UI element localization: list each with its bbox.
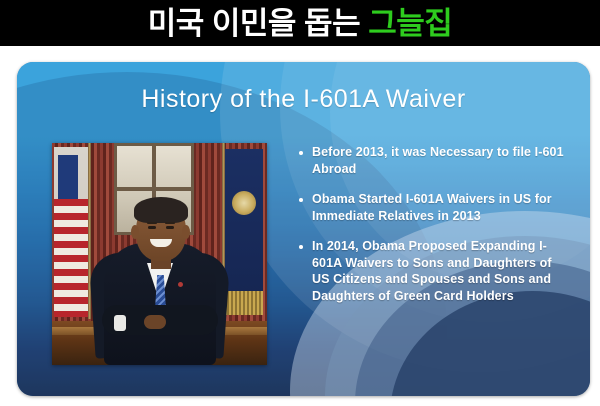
photo-presidential-seal [232, 191, 256, 215]
header-title-white: 미국 이민을 돕는 [148, 6, 360, 41]
bullet-dot-icon [299, 245, 303, 249]
photo-right-eye [166, 226, 174, 229]
slide-title: History of the I-601A Waiver [17, 85, 590, 114]
header-title-green: 그늘집 [368, 6, 452, 41]
photo-shirt-cuff [114, 315, 126, 331]
photo-window-mullion-horizontal [114, 187, 194, 191]
photo-hair [134, 197, 188, 223]
list-item: Obama Started I-601A Waivers in US for I… [299, 191, 569, 224]
header-banner: 미국 이민을 돕는 그늘집 [0, 0, 600, 46]
photo-flag-fringe [225, 291, 263, 315]
header-title: 미국 이민을 돕는 그늘집 [148, 8, 453, 39]
bullet-dot-icon [299, 151, 303, 155]
obama-portrait-photo [52, 143, 267, 365]
list-item: In 2014, Obama Proposed Expanding I-601A… [299, 238, 569, 304]
bullet-text: Obama Started I-601A Waivers in US for I… [312, 191, 569, 224]
photo-right-eyebrow [165, 222, 175, 224]
photo-hand [144, 315, 166, 329]
photo-lapel-pin [178, 282, 183, 287]
bullet-dot-icon [299, 198, 303, 202]
bullet-text: In 2014, Obama Proposed Expanding I-601A… [312, 238, 569, 304]
slide-bullet-list: Before 2013, it was Necessary to file I-… [299, 144, 569, 318]
photo-right-ear [182, 225, 190, 239]
list-item: Before 2013, it was Necessary to file I-… [299, 144, 569, 177]
bullet-text: Before 2013, it was Necessary to file I-… [312, 144, 569, 177]
photo-presidential-flag [225, 149, 263, 315]
photo-left-eyebrow [147, 222, 157, 224]
photo-us-flag-canton [58, 155, 78, 199]
presentation-slide: History of the I-601A Waiver [17, 62, 590, 396]
photo-us-flag [54, 147, 88, 317]
photo-us-flag-stripes [54, 199, 88, 317]
photo-left-ear [131, 225, 139, 239]
photo-left-eye [148, 226, 156, 229]
